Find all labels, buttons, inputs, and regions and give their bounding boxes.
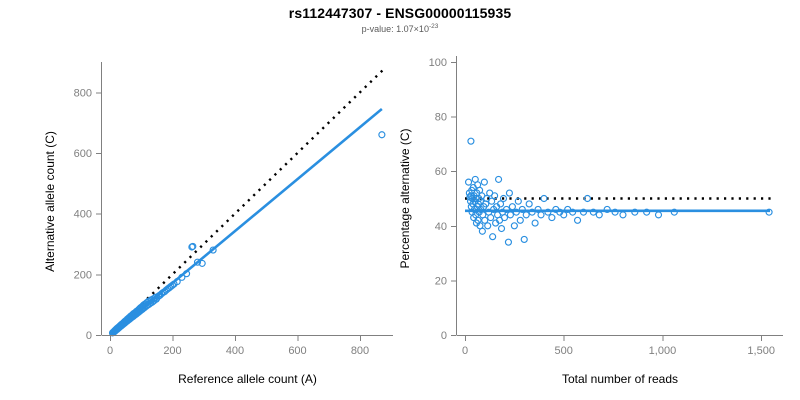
data-point (481, 179, 487, 185)
x-tick-label: 1,000 (649, 345, 677, 357)
y-tick-label: 40 (435, 221, 447, 233)
data-point (501, 215, 507, 221)
data-point (509, 204, 515, 210)
data-point (523, 212, 529, 218)
data-point (466, 179, 472, 185)
data-point (499, 226, 505, 232)
figure-root: rs112447307 - ENSG00000115935 p-value: 1… (0, 0, 800, 400)
data-point (517, 217, 523, 223)
y-tick-label: 60 (435, 166, 447, 178)
data-point (505, 239, 511, 245)
x-tick-label: 1,500 (747, 345, 775, 357)
data-point (506, 190, 512, 196)
data-point (656, 212, 662, 218)
data-point (526, 201, 532, 207)
y-tick-label: 100 (429, 57, 447, 69)
data-point (488, 215, 494, 221)
data-point (511, 223, 517, 229)
data-point (532, 220, 538, 226)
data-point (479, 228, 485, 234)
data-point (485, 223, 491, 229)
data-point (538, 212, 544, 218)
data-point (507, 212, 513, 218)
y-tick-label: 0 (441, 330, 447, 342)
data-point (468, 138, 474, 144)
plot-area (465, 138, 775, 245)
x-tick-label: 500 (555, 345, 573, 357)
x-axis-title: Total number of reads (562, 372, 678, 386)
data-point (549, 215, 555, 221)
data-point (490, 234, 496, 240)
data-point (496, 176, 502, 182)
x-tick-label: 0 (462, 345, 468, 357)
data-point (541, 196, 547, 202)
data-point (620, 212, 626, 218)
scatter-panel-percentage-vs-reads: 05001,0001,500020406080100Total number o… (0, 0, 800, 400)
y-axis-title: Percentage alternative (C) (398, 128, 412, 268)
axes: 05001,0001,500020406080100Total number o… (398, 56, 783, 386)
data-point (521, 236, 527, 242)
data-point (575, 217, 581, 223)
point-series (466, 138, 773, 245)
data-point (596, 212, 602, 218)
y-tick-label: 20 (435, 275, 447, 287)
y-tick-label: 80 (435, 112, 447, 124)
